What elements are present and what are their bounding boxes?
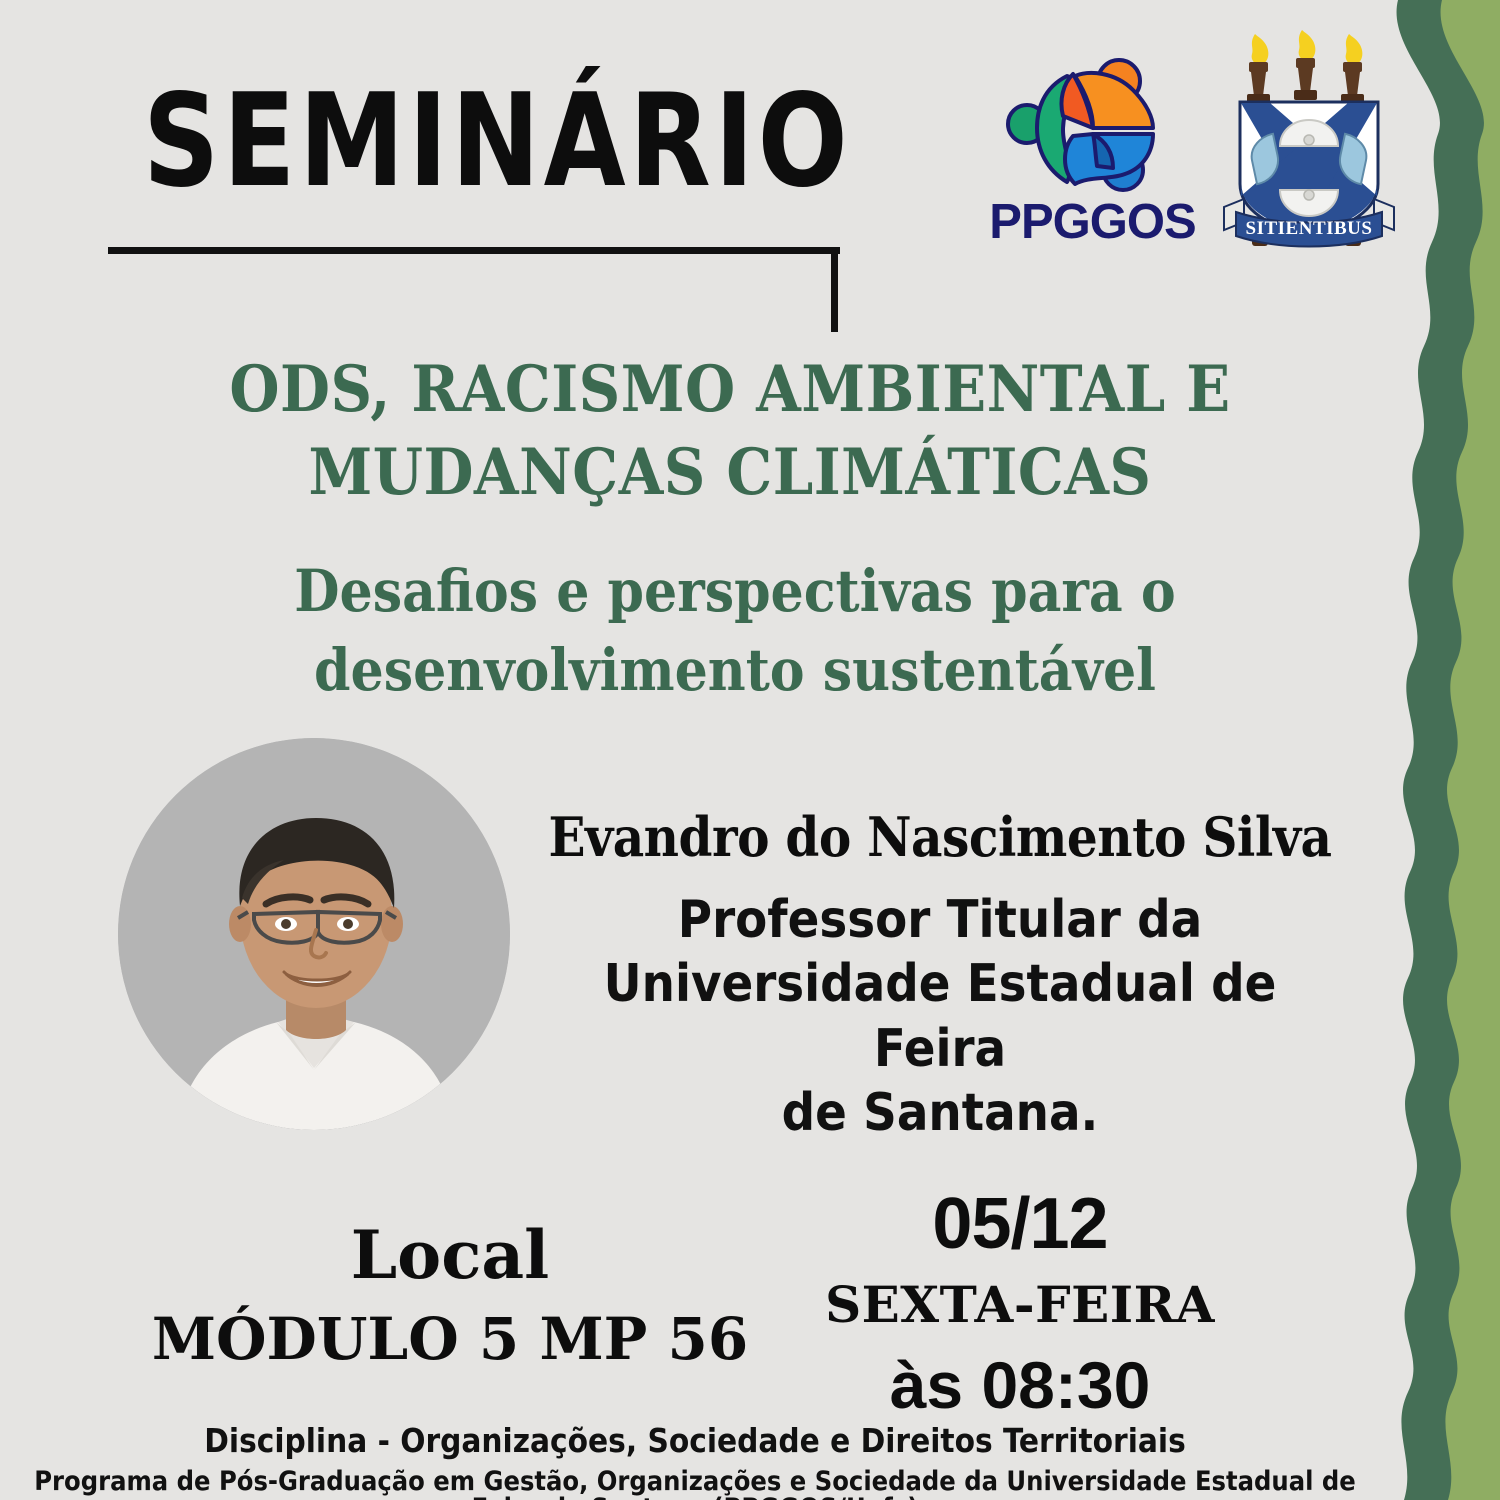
footer-discipline: Disciplina - Organizações, Sociedade e D… (0, 1424, 1390, 1457)
speaker-role-line-1: Professor Titular da (545, 888, 1335, 952)
location-value: MÓDULO 5 MP 56 (130, 1310, 770, 1368)
event-weekday: SEXTA-FEIRA (760, 1280, 1280, 1330)
event-date: 05/12 (760, 1188, 1280, 1260)
kicker-underline-horizontal (108, 247, 840, 254)
footer-program: Programa de Pós-Graduação em Gestão, Org… (0, 1468, 1390, 1500)
seminar-poster: SEMINÁRIO PPGGOS (0, 0, 1500, 1500)
event-time: às 08:30 (760, 1352, 1280, 1418)
ppggos-wordmark: PPGGOS (985, 198, 1200, 247)
location-label: Local (130, 1222, 770, 1288)
speaker-role-line-2: Universidade Estadual de Feira (545, 952, 1335, 1081)
speaker-role-line-3: de Santana. (545, 1081, 1335, 1145)
speaker-photo (118, 738, 510, 1130)
main-title-line-2: MUDANÇAS CLIMÁTICAS (160, 431, 1300, 514)
speaker-name: Evandro do Nascimento Silva (545, 808, 1335, 867)
uefs-motto-text: SITIENTIBUS (1246, 218, 1373, 239)
seminar-subtitle: Desafios e perspectivas para o desenvolv… (190, 552, 1280, 711)
speaker-portrait-illustration (118, 738, 510, 1130)
subtitle-line-2: desenvolvimento sustentável (190, 631, 1280, 710)
main-title-line-1: ODS, RACISMO AMBIENTAL E (160, 348, 1300, 431)
ppggos-mark-icon (997, 48, 1187, 198)
seminar-main-title: ODS, RACISMO AMBIENTAL E MUDANÇAS CLIMÁT… (160, 348, 1300, 514)
poster-kicker-title: SEMINÁRIO (143, 78, 851, 206)
kicker-underline-vertical (831, 247, 838, 332)
speaker-affiliation: Professor Titular da Universidade Estadu… (545, 888, 1335, 1146)
subtitle-line-1: Desafios e perspectivas para o (190, 552, 1280, 631)
ppggos-logo: PPGGOS (985, 48, 1200, 263)
uefs-coat-of-arms-icon: SITIENTIBUS (1218, 24, 1400, 276)
